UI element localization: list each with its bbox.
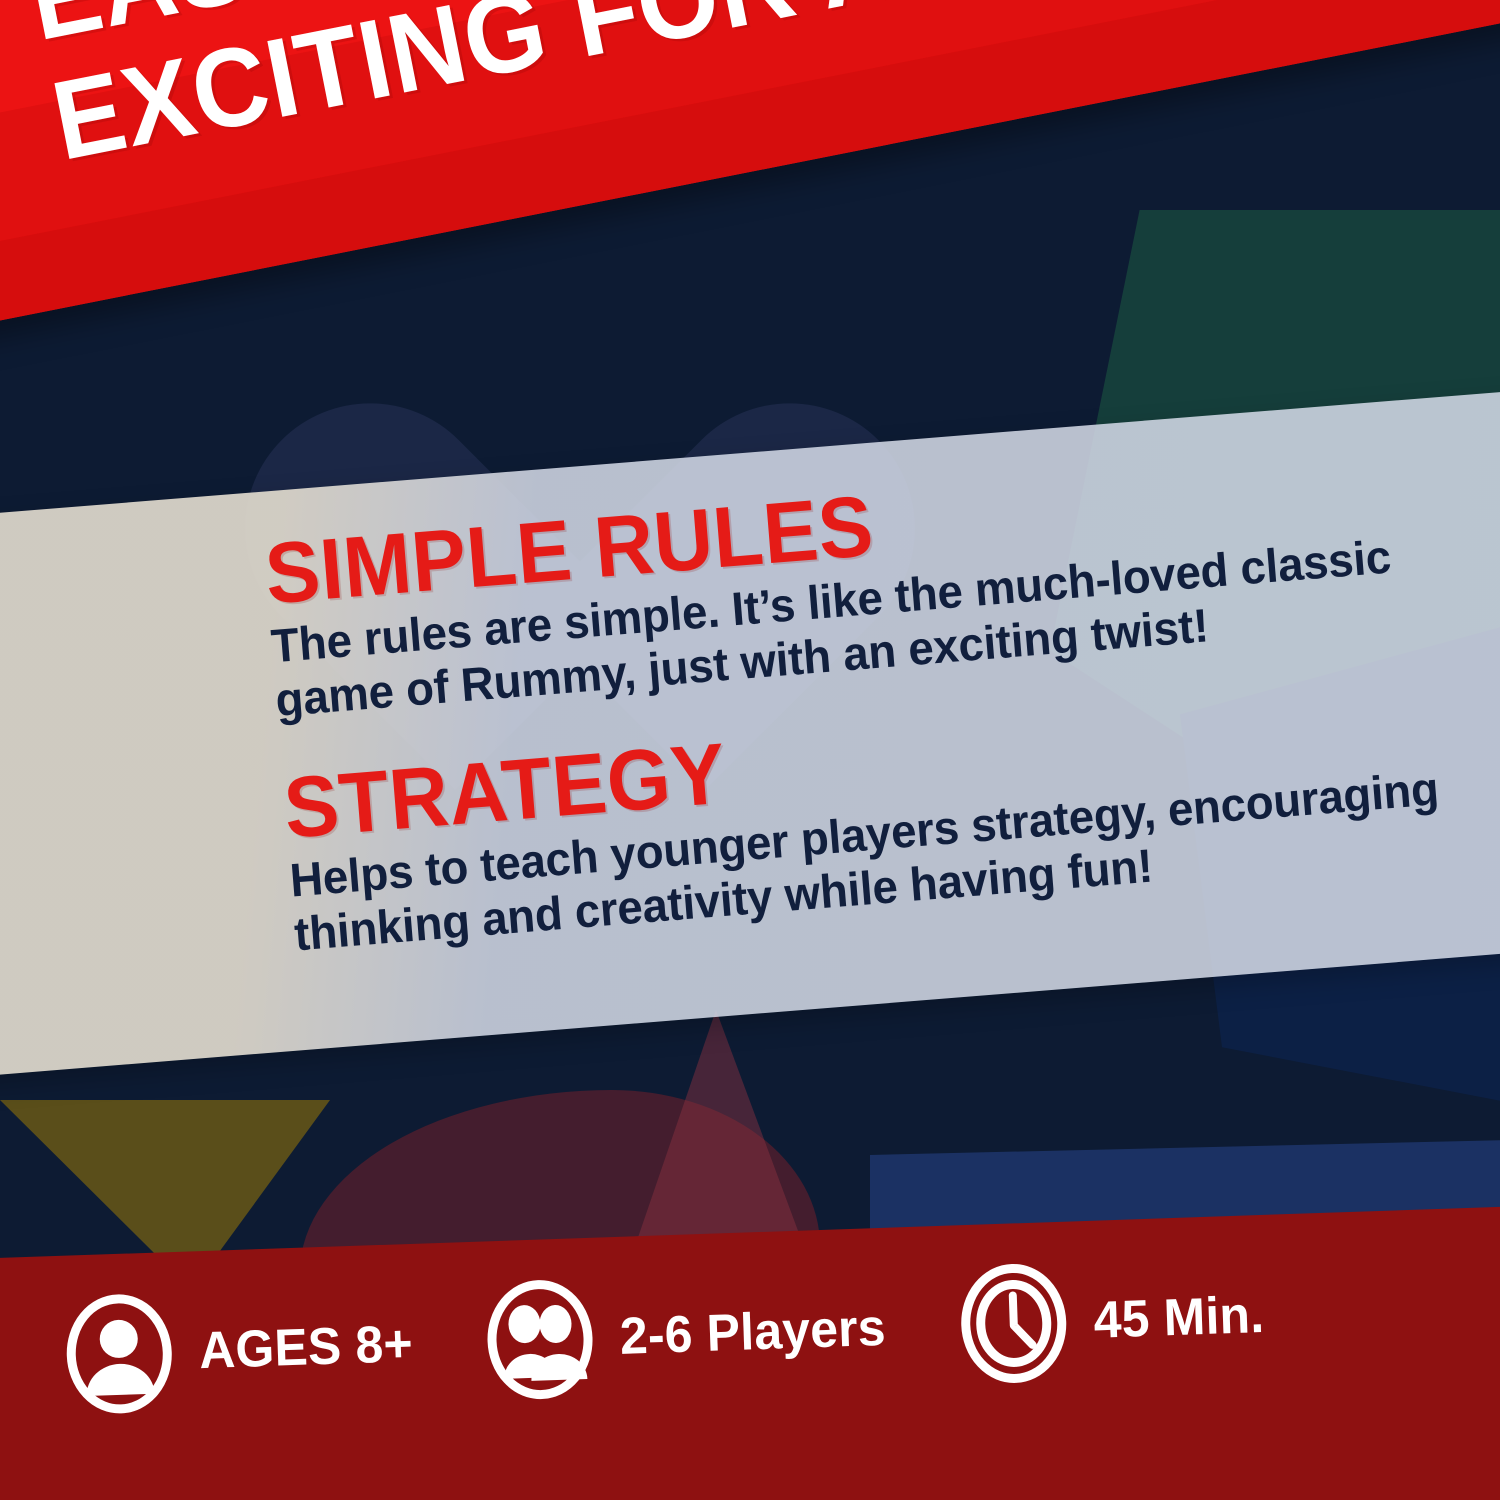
clock-icon [956, 1260, 1072, 1388]
infographic-canvas: EASY TO LEARNEXCITING FOR ALL SIMPLE RUL… [0, 0, 1500, 1500]
spec-players: 2-6 Players [481, 1265, 898, 1403]
spec-duration: 45 Min. [956, 1253, 1274, 1388]
game-specs-list: AGES 8+ 2-6 Players [61, 1246, 1484, 1418]
two-people-icon [481, 1276, 597, 1404]
spec-players-label: 2-6 Players [618, 1298, 886, 1367]
spec-age: AGES 8+ [61, 1282, 424, 1418]
single-person-icon [61, 1290, 177, 1418]
features-list: SIMPLE RULES The rules are simple. It’s … [262, 430, 1500, 961]
spec-age-label: AGES 8+ [198, 1314, 414, 1381]
spec-duration-label: 45 Min. [1093, 1285, 1266, 1351]
